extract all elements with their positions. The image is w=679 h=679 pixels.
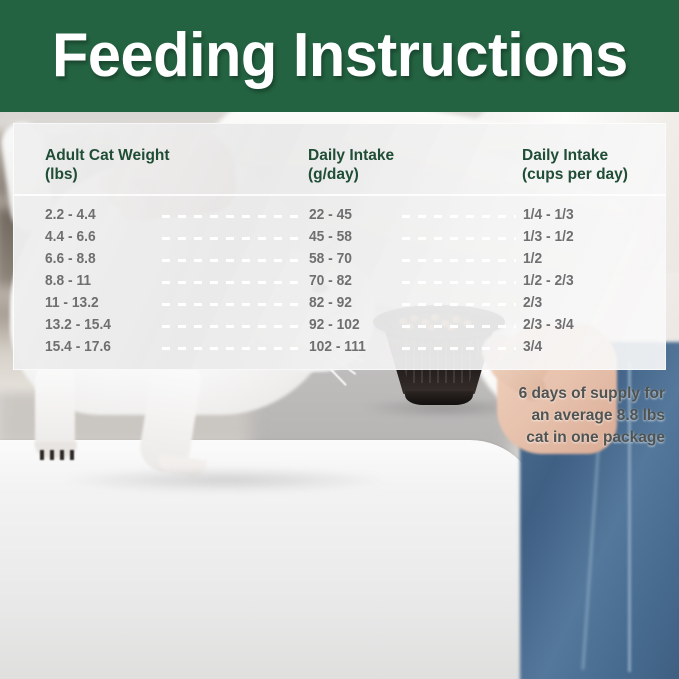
feeding-table: Adult Cat Weight (lbs) Daily Intake (g/d…	[13, 123, 666, 370]
cell-grams: 92 - 102	[309, 314, 360, 336]
leader-dots	[162, 325, 304, 328]
cell-grams: 45 - 58	[309, 226, 352, 248]
column-header-daily-intake-cups: Daily Intake (cups per day)	[522, 146, 628, 185]
cell-grams: 70 - 82	[309, 270, 352, 292]
table-row: 15.4 - 17.6102 - 1113/4	[14, 336, 665, 358]
leader-dots	[402, 325, 516, 328]
column-header-adult-cat-weight: Adult Cat Weight (lbs)	[45, 146, 170, 185]
feeding-instructions-page: 6 days of supply for an average 8.8 lbs …	[0, 0, 679, 679]
leader-dots	[402, 215, 516, 218]
table-row: 2.2 - 4.422 - 451/4 - 1/3	[14, 204, 665, 226]
supply-note: 6 days of supply for an average 8.8 lbs …	[425, 383, 665, 449]
table-header-row: Adult Cat Weight (lbs) Daily Intake (g/d…	[14, 124, 665, 194]
cell-weight: 13.2 - 15.4	[45, 314, 111, 336]
cell-grams: 82 - 92	[309, 292, 352, 314]
cell-grams: 22 - 45	[309, 204, 352, 226]
cell-weight: 2.2 - 4.4	[45, 204, 96, 226]
table-row: 6.6 - 8.858 - 701/2	[14, 248, 665, 270]
cat-claws	[40, 450, 74, 460]
page-title: Feeding Instructions	[52, 25, 628, 87]
header-banner: Feeding Instructions	[0, 0, 679, 112]
table-row: 8.8 - 1170 - 821/2 - 2/3	[14, 270, 665, 292]
column-header-daily-intake-grams: Daily Intake (g/day)	[308, 146, 394, 185]
cell-cups: 2/3	[523, 292, 542, 314]
leader-dots	[162, 347, 304, 350]
cell-grams: 102 - 111	[309, 336, 366, 358]
cell-cups: 1/2 - 2/3	[523, 270, 574, 292]
leader-dots	[162, 281, 304, 284]
leader-dots	[402, 281, 516, 284]
cell-cups: 2/3 - 3/4	[523, 314, 574, 336]
cat-back-leg	[35, 362, 75, 452]
table-body: 2.2 - 4.422 - 451/4 - 1/34.4 - 6.645 - 5…	[14, 204, 665, 358]
cell-cups: 1/4 - 1/3	[523, 204, 574, 226]
leader-dots	[402, 259, 516, 262]
leader-dots	[162, 303, 304, 306]
leader-dots	[402, 303, 516, 306]
cell-weight: 8.8 - 11	[45, 270, 91, 292]
cell-cups: 1/2	[523, 248, 542, 270]
cell-grams: 58 - 70	[309, 248, 352, 270]
table-row: 11 - 13.282 - 922/3	[14, 292, 665, 314]
cat-shadow	[60, 468, 390, 492]
leader-dots	[162, 237, 304, 240]
table-row: 4.4 - 6.645 - 581/3 - 1/2	[14, 226, 665, 248]
leader-dots	[402, 237, 516, 240]
cell-cups: 1/3 - 1/2	[523, 226, 574, 248]
header-divider	[14, 194, 665, 196]
cell-weight: 11 - 13.2	[45, 292, 99, 314]
cell-weight: 15.4 - 17.6	[45, 336, 111, 358]
leader-dots	[162, 259, 304, 262]
cell-cups: 3/4	[523, 336, 542, 358]
cell-weight: 6.6 - 8.8	[45, 248, 96, 270]
leader-dots	[402, 347, 516, 350]
leader-dots	[162, 215, 304, 218]
table-row: 13.2 - 15.492 - 1022/3 - 3/4	[14, 314, 665, 336]
cell-weight: 4.4 - 6.6	[45, 226, 96, 248]
